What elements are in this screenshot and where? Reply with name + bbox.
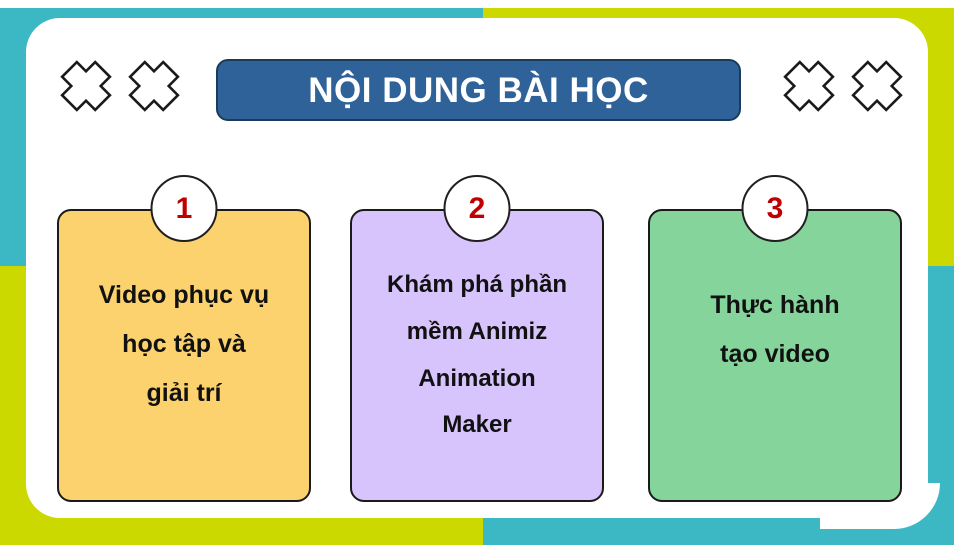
slide-root: NỘI DUNG BÀI HỌC Video phục vụhọc tập và… (0, 0, 954, 545)
card-number: 1 (176, 194, 193, 224)
slide-content: NỘI DUNG BÀI HỌC Video phục vụhọc tập và… (0, 0, 954, 545)
content-card-3[interactable]: Thực hànhtạo video 3 (648, 209, 902, 502)
content-card-1[interactable]: Video phục vụhọc tập vàgiải trí 1 (57, 209, 311, 502)
content-cards: Video phục vụhọc tập vàgiải trí 1 Khám p… (0, 0, 954, 545)
card-number-badge: 1 (151, 175, 218, 242)
card-body: Video phục vụhọc tập vàgiải trí (57, 209, 311, 502)
card-number: 3 (767, 194, 784, 224)
card-number: 2 (469, 194, 486, 224)
card-label: Thực hànhtạo video (662, 281, 888, 379)
card-label: Video phục vụhọc tập vàgiải trí (71, 271, 297, 417)
card-body: Thực hànhtạo video (648, 209, 902, 502)
content-card-2[interactable]: Khám phá phầnmềm AnimizAnimationMaker 2 (350, 209, 604, 502)
card-number-badge: 2 (444, 175, 511, 242)
card-label: Khám phá phầnmềm AnimizAnimationMaker (364, 262, 590, 449)
card-number-badge: 3 (742, 175, 809, 242)
card-body: Khám phá phầnmềm AnimizAnimationMaker (350, 209, 604, 502)
